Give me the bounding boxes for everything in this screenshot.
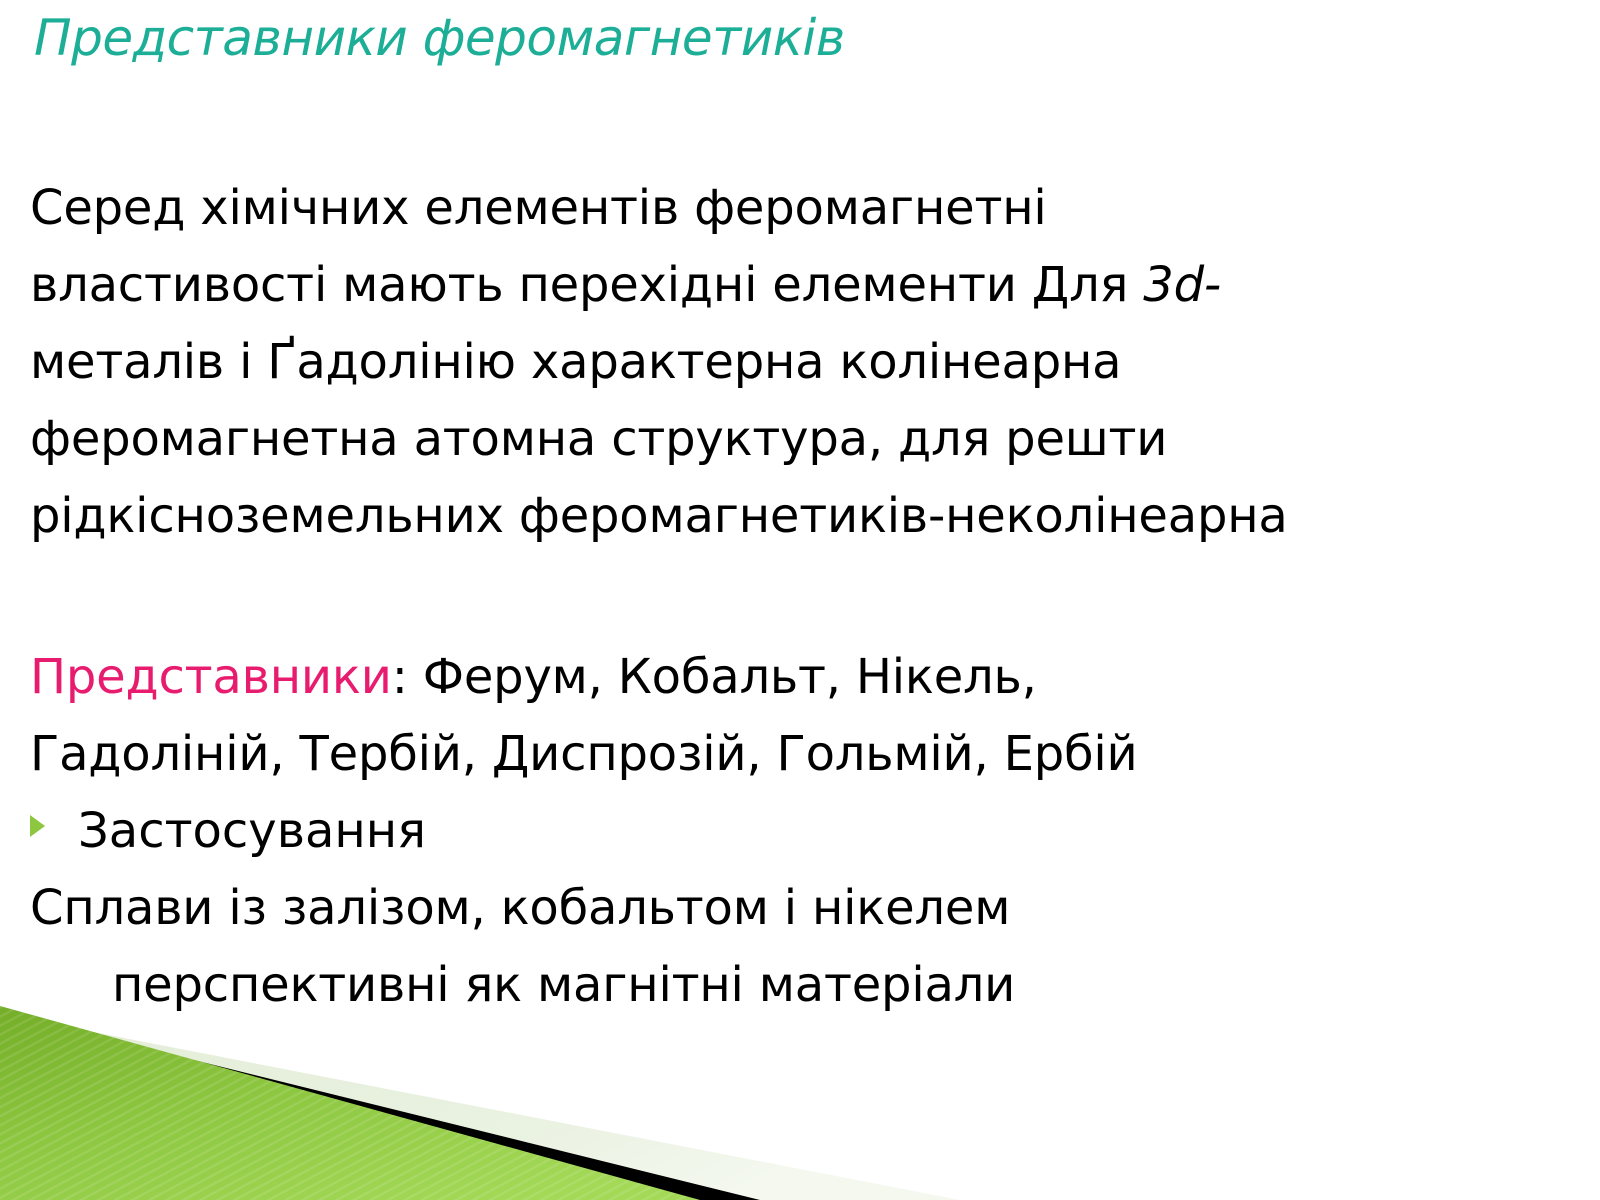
triangle-bullet-icon	[30, 815, 60, 837]
italic-3d-fragment: 3d-	[1143, 257, 1221, 313]
slide-body: Серед хімічних елементів феромагнетні вл…	[30, 170, 1590, 1024]
paragraph-spacer	[30, 555, 1590, 639]
page-title: Представники феромагнетиків	[34, 8, 1574, 68]
paragraph-3: Сплави із залізом, кобальтом і нікелем п…	[30, 870, 1590, 1024]
representatives-items-line-2: Гадоліній, Тербій, Диспрозій, Гольмій, Е…	[30, 716, 1590, 793]
pale-green-band	[0, 1014, 960, 1200]
green-wedge	[0, 1006, 700, 1200]
paragraph-3-line-2: перспективні як магнітні матеріали	[30, 947, 1590, 1024]
slide-canvas: Представники феромагнетиків Серед хімічн…	[0, 0, 1600, 1200]
paragraph-1: Серед хімічних елементів феромагнетні вл…	[30, 170, 1590, 555]
paragraph-1-line-2: властивості мають перехідні елементи Для…	[30, 247, 1590, 324]
paragraph-1-line-2-text: властивості мають перехідні елементи Для	[30, 257, 1143, 313]
paragraph-2-line-1: Представники: Ферум, Кобальт, Нікель,	[30, 639, 1590, 716]
paragraph-2: Представники: Ферум, Кобальт, Нікель, Га…	[30, 639, 1590, 793]
paragraph-1-line-4: феромагнетна атомна структура, для решти	[30, 401, 1590, 478]
list-item-label: Застосування	[60, 793, 426, 870]
paragraph-1-line-3: металів і Ґадолінію характерна колінеарн…	[30, 324, 1590, 401]
representatives-separator: :	[392, 649, 423, 705]
green-wedge-texture	[0, 1006, 700, 1200]
paragraph-1-line-5: рідкісноземельних феромагнетиків-неколін…	[30, 478, 1590, 555]
black-stripe	[0, 1012, 760, 1200]
representatives-items-line-1: Ферум, Кобальт, Нікель,	[423, 649, 1037, 705]
representatives-label: Представники	[30, 649, 392, 705]
list-item: Застосування	[30, 793, 1590, 870]
paragraph-3-line-1: Сплави із залізом, кобальтом і нікелем	[30, 870, 1590, 947]
paragraph-1-line-1: Серед хімічних елементів феромагнетні	[30, 170, 1590, 247]
